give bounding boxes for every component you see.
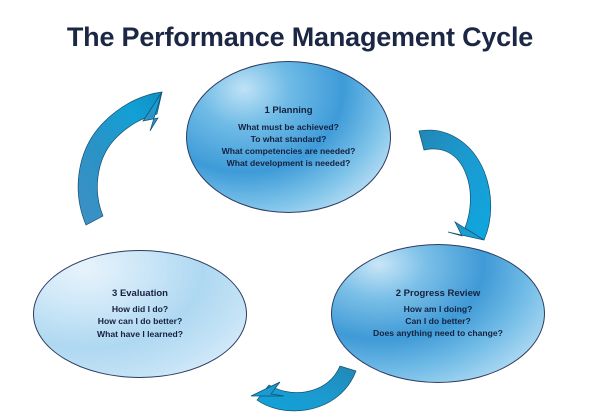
node-planning-line-2: To what standard?: [251, 133, 327, 145]
arrow-planning-to-progress-icon: [419, 130, 491, 240]
node-evaluation-heading: 3 Evaluation: [112, 288, 168, 300]
node-progress-review-line-3: Does anything need to change?: [373, 327, 503, 339]
node-planning-heading: 1 Planning: [264, 105, 312, 117]
node-evaluation-line-2: How can I do better?: [98, 315, 183, 327]
arrow-evaluation-to-planning-icon: [78, 92, 162, 225]
node-planning-line-4: What development is needed?: [227, 157, 351, 169]
cycle-node-evaluation[interactable]: 3 Evaluation How did I do? How can I do …: [33, 250, 247, 378]
node-progress-review-heading: 2 Progress Review: [396, 288, 481, 300]
node-evaluation-line-3: What have I learned?: [97, 328, 183, 340]
diagram-canvas: The Performance Management Cycle: [0, 0, 600, 417]
node-evaluation-line-1: How did I do?: [112, 303, 168, 315]
cycle-node-planning[interactable]: 1 Planning What must be achieved? To wha…: [186, 61, 391, 213]
page-title: The Performance Management Cycle: [0, 22, 600, 53]
arrow-progress-to-evaluation-icon: [251, 366, 356, 411]
node-progress-review-line-2: Can I do better?: [405, 315, 470, 327]
cycle-node-progress-review[interactable]: 2 Progress Review How am I doing? Can I …: [331, 244, 545, 383]
node-planning-line-3: What competencies are needed?: [222, 145, 356, 157]
node-planning-line-1: What must be achieved?: [238, 121, 339, 133]
node-progress-review-line-1: How am I doing?: [404, 303, 473, 315]
